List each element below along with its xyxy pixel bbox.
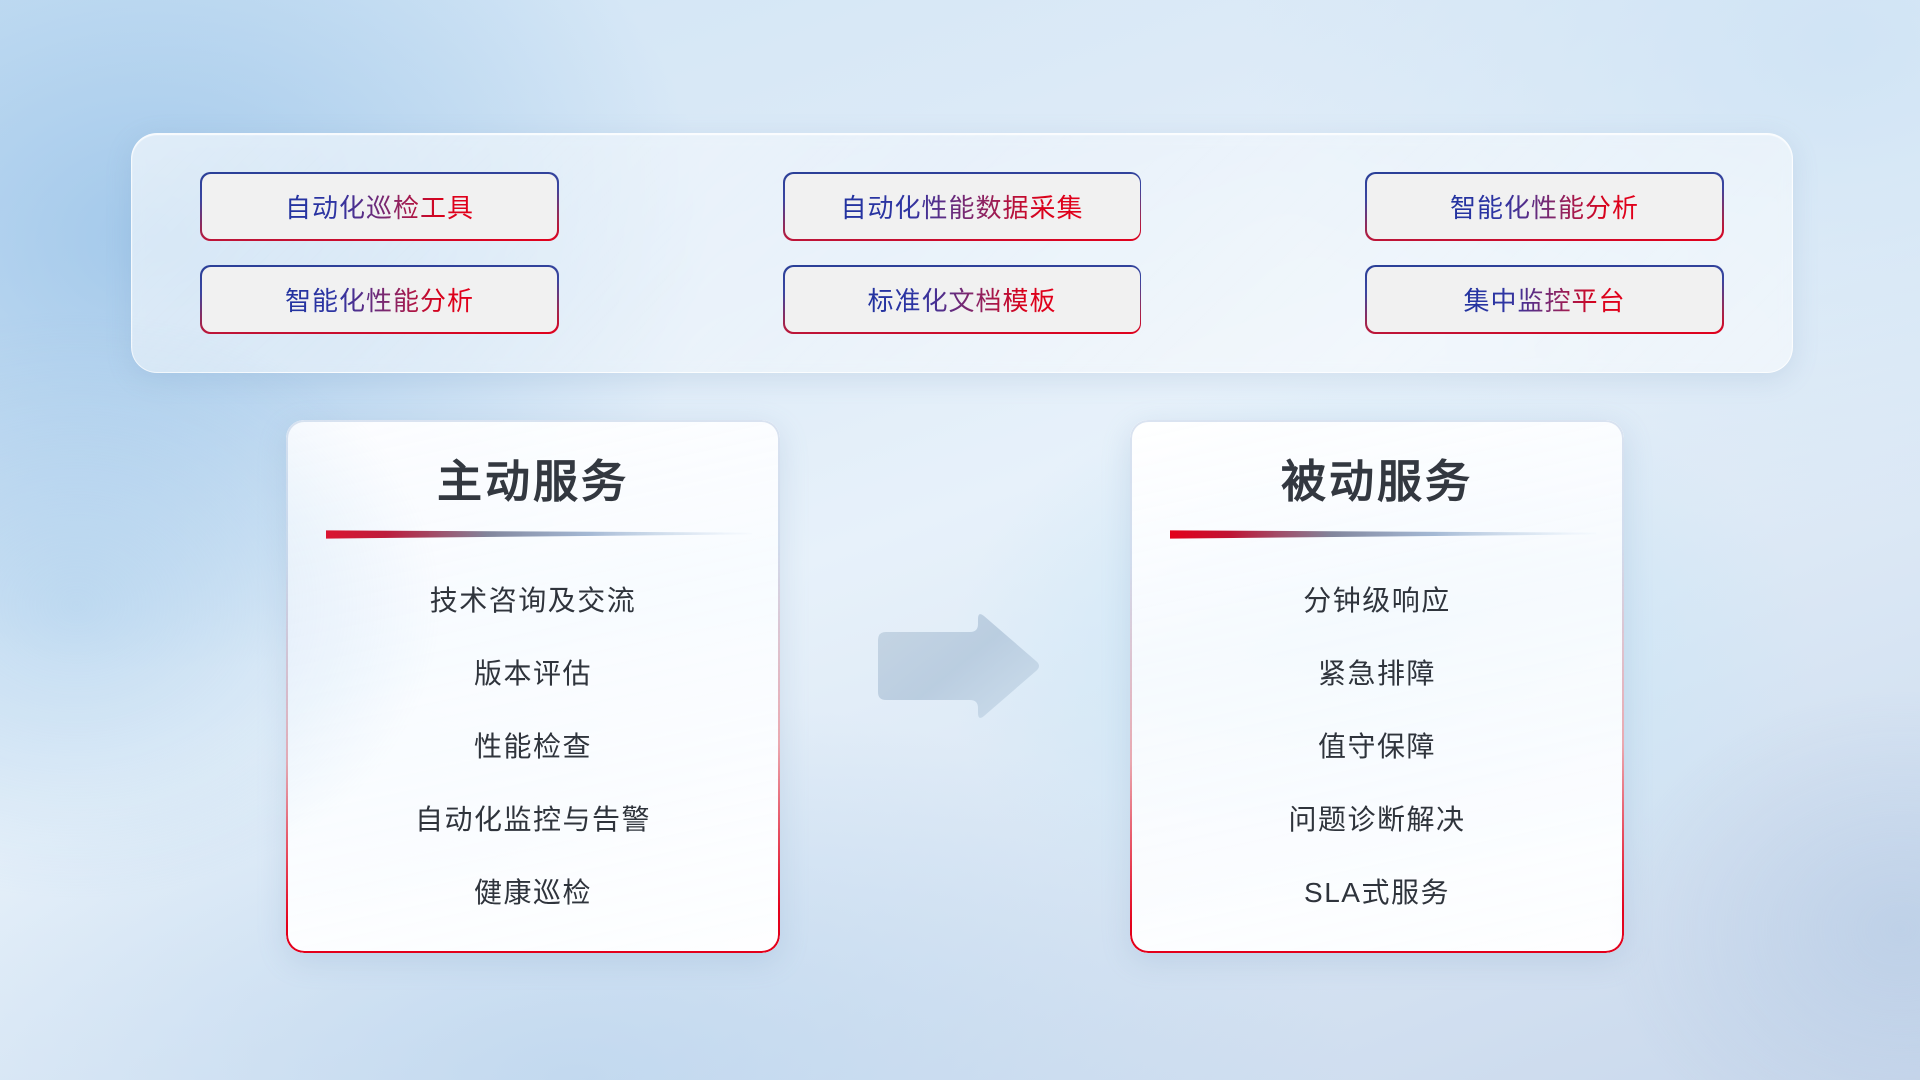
list-item: 自动化监控与告警: [415, 798, 651, 838]
capability-chip[interactable]: 智能化性能分析: [202, 267, 557, 332]
card-title: 被动服务: [1170, 454, 1584, 510]
list-item: 版本评估: [474, 652, 592, 692]
arrow-right-icon: [872, 614, 1040, 742]
list-item: 分钟级响应: [1303, 579, 1451, 619]
capability-chip-label: 智能化性能分析: [285, 281, 474, 318]
list-item: SLA式服务: [1304, 871, 1450, 911]
capability-chip-label: 智能化性能分析: [1450, 188, 1639, 225]
capability-chip-label: 标准化文档模板: [867, 281, 1056, 318]
capability-chip[interactable]: 自动化性能数据采集: [785, 174, 1140, 239]
list-item: 健康巡检: [474, 871, 592, 911]
capability-chip-label: 自动化巡检工具: [285, 188, 474, 225]
diagram-stage: 自动化巡检工具 自动化性能数据采集 智能化性能分析 智能化性能分析 标准化文档模…: [0, 0, 1920, 1080]
card-title: 主动服务: [326, 454, 740, 510]
capability-chip[interactable]: 标准化文档模板: [785, 267, 1140, 332]
capability-chip-label: 集中监控平台: [1463, 281, 1625, 318]
list-item: 性能检查: [474, 725, 592, 765]
list-item: 紧急排障: [1318, 652, 1436, 692]
list-item: 问题诊断解决: [1288, 798, 1465, 838]
card-divider-rule: [326, 528, 752, 539]
capability-chip[interactable]: 集中监控平台: [1367, 267, 1722, 332]
capability-chip-label: 自动化性能数据采集: [840, 188, 1083, 225]
list-item: 值守保障: [1318, 725, 1436, 765]
card-item-list: 分钟级响应 紧急排障 值守保障 问题诊断解决 SLA式服务: [1170, 579, 1584, 911]
card-divider-rule: [1170, 528, 1596, 539]
service-card-reactive: 被动服务 分钟级响应 紧急排障 值守保障: [1130, 420, 1624, 953]
list-item: 技术咨询及交流: [430, 579, 637, 619]
service-card-proactive: 主动服务 技术咨询及交流 版本评估 性能检查: [286, 420, 780, 953]
card-item-list: 技术咨询及交流 版本评估 性能检查 自动化监控与告警 健康巡检: [326, 579, 740, 911]
capability-row-1: 自动化巡检工具 自动化性能数据采集 智能化性能分析: [202, 174, 1722, 239]
capability-row-2: 智能化性能分析 标准化文档模板 集中监控平台: [202, 267, 1722, 332]
capabilities-panel: 自动化巡检工具 自动化性能数据采集 智能化性能分析 智能化性能分析 标准化文档模…: [131, 133, 1793, 373]
capability-chip[interactable]: 智能化性能分析: [1367, 174, 1722, 239]
capability-chip[interactable]: 自动化巡检工具: [202, 174, 557, 239]
